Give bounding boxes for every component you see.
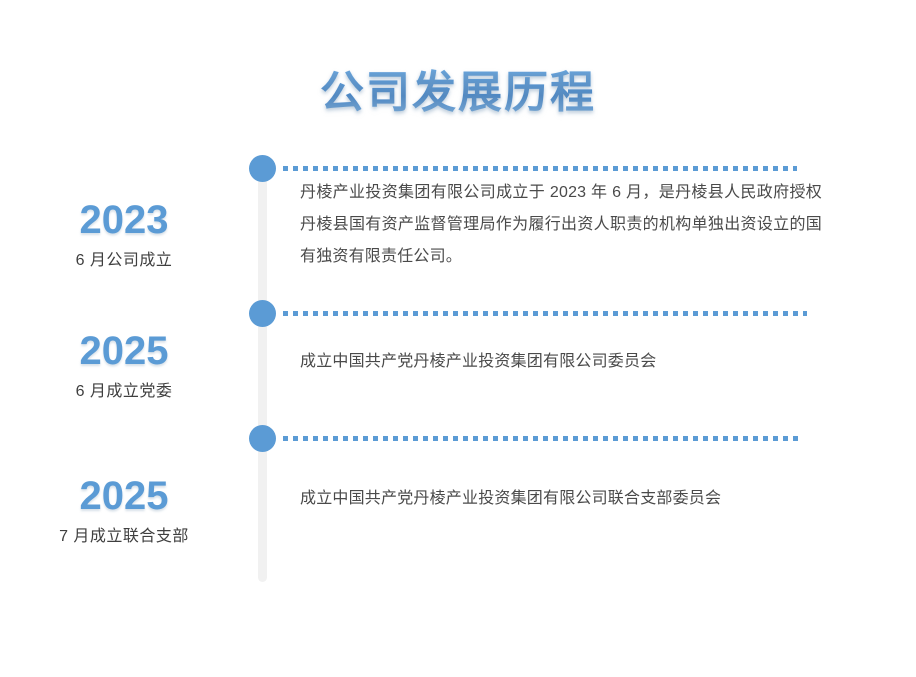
timeline-caption: 6 月公司成立 bbox=[0, 249, 248, 273]
timeline-dot-icon bbox=[249, 300, 276, 327]
slide-canvas: 公司发展历程 2023 6 月公司成立 丹棱产业投资集团有限公司成立于 2023… bbox=[0, 0, 916, 677]
timeline-year: 2025 bbox=[0, 330, 248, 372]
timeline-year-block: 2025 6 月成立党委 bbox=[0, 330, 248, 404]
timeline-dot-icon bbox=[249, 155, 276, 182]
timeline-spine bbox=[258, 168, 267, 582]
timeline-dashed-divider bbox=[283, 311, 807, 316]
timeline-year-block: 2025 7 月成立联合支部 bbox=[0, 475, 248, 549]
timeline-description: 成立中国共产党丹棱产业投资集团有限公司联合支部委员会 bbox=[300, 483, 840, 515]
timeline-year-block: 2023 6 月公司成立 bbox=[0, 199, 248, 273]
timeline-description: 丹棱产业投资集团有限公司成立于 2023 年 6 月，是丹棱县人民政府授权丹棱县… bbox=[300, 177, 822, 273]
timeline-description: 成立中国共产党丹棱产业投资集团有限公司委员会 bbox=[300, 346, 840, 378]
timeline-year: 2023 bbox=[0, 199, 248, 241]
timeline-dashed-divider bbox=[283, 166, 797, 171]
page-title: 公司发展历程 bbox=[0, 68, 916, 119]
timeline-dashed-divider bbox=[283, 436, 802, 441]
timeline-caption: 7 月成立联合支部 bbox=[0, 525, 248, 549]
timeline-dot-icon bbox=[249, 425, 276, 452]
timeline-caption: 6 月成立党委 bbox=[0, 380, 248, 404]
timeline-year: 2025 bbox=[0, 475, 248, 517]
